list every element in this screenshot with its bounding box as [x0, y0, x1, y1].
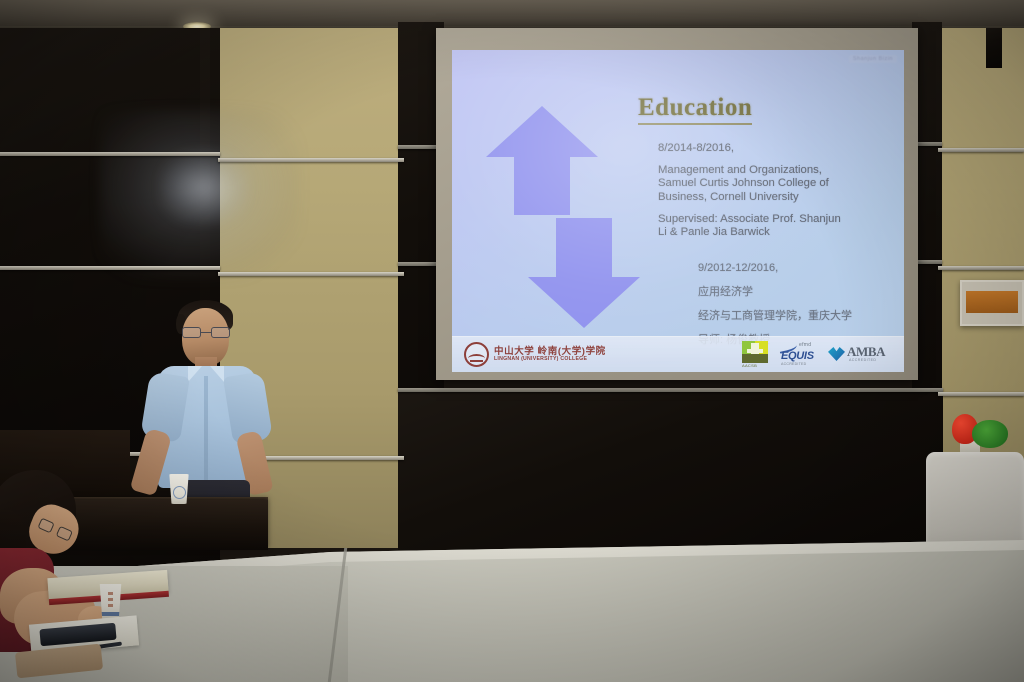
supervisor-line-1: Supervised: Associate Prof. Shanjun [658, 213, 890, 226]
cup-print-pattern [108, 592, 113, 610]
plant-leaves-green [972, 420, 1008, 448]
wall-panel-below-screen [398, 390, 943, 550]
wall-trim-5 [938, 148, 1024, 152]
wall-panel-far-right [986, 28, 1002, 68]
presenter-collar-right [210, 366, 224, 382]
arrow-down-head [528, 277, 640, 328]
aacsb-logo: AACSB [742, 341, 768, 368]
supervisor-line-2: Li & Panle Jia Barwick [658, 226, 890, 239]
slide-footer-bar: 中山大学 岭南(大学)学院 LINGNAN (UNIVERSITY) COLLE… [452, 336, 904, 372]
framed-picture [960, 280, 1024, 326]
slide-watermark: Shanjun Bizin [849, 55, 897, 63]
equis-wordmark: EQUIS [781, 350, 814, 362]
wall-trim-7 [218, 272, 404, 276]
education-major-cqu: 应用经济学 [698, 282, 904, 303]
amba-chevron-icon [828, 347, 845, 361]
arrow-down-icon [528, 218, 640, 328]
program-line-2: Samuel Curtis Johnson College of [658, 177, 890, 190]
wall-trim-14 [938, 392, 1024, 396]
equis-logo: efmd EQUIS ACCREDITED [778, 341, 818, 368]
presenter-glasses [182, 327, 230, 338]
education-dates-cqu: 9/2012-12/2016, [698, 258, 904, 279]
education-program-cornell: Management and Organizations, Samuel Cur… [658, 164, 890, 204]
aacsb-mark-horizontal [747, 349, 763, 353]
lingnan-name-en: LINGNAN (UNIVERSITY) COLLEGE [494, 357, 606, 362]
accreditation-logos: AACSB efmd EQUIS ACCREDITED AMBA ACCREDI… [742, 341, 894, 368]
lingnan-seal-icon [464, 342, 489, 367]
wall-trim-6 [0, 266, 220, 270]
aacsb-label: AACSB [742, 363, 757, 368]
amba-logo: AMBA ACCREDITED [828, 341, 894, 368]
presenter-glasses-right-lens [211, 327, 230, 338]
arrow-down-stem [556, 218, 612, 277]
presenter-glasses-left-lens [182, 327, 201, 338]
aacsb-base [742, 354, 768, 363]
wall-trim-2 [218, 158, 404, 162]
wall-trim-1 [0, 152, 220, 156]
conference-room-scene: Shanjun Bizin Education 8/2014-8/2016, M… [0, 0, 1024, 682]
program-line-3: Business, Cornell University [658, 191, 890, 204]
arrow-up-stem [514, 156, 570, 215]
podium-paper-cup [168, 474, 190, 504]
education-supervisors: Supervised: Associate Prof. Shanjun Li &… [658, 213, 890, 239]
arrow-up-head [486, 106, 598, 157]
education-dates-cornell: 8/2014-8/2016, [658, 142, 890, 155]
presenter-glasses-bridge [201, 332, 211, 333]
amba-sub-label: ACCREDITED [849, 358, 876, 362]
education-school-cqu: 经济与工商管理学院，重庆大学 [698, 306, 904, 327]
projection-screen-frame: Shanjun Bizin Education 8/2014-8/2016, M… [436, 28, 918, 380]
program-line-1: Management and Organizations, [658, 164, 890, 177]
equis-sub-label: ACCREDITED [781, 362, 806, 366]
arrow-up-icon [486, 106, 598, 216]
presenter-shirt-placket [204, 376, 208, 484]
slide-title: Education [638, 94, 752, 125]
slide-text-english: 8/2014-8/2016, Management and Organizati… [658, 142, 890, 239]
frame-picture-art [966, 291, 1018, 313]
lingnan-college-logo: 中山大学 岭南(大学)学院 LINGNAN (UNIVERSITY) COLLE… [464, 342, 606, 367]
lingnan-wordmark: 中山大学 岭南(大学)学院 LINGNAN (UNIVERSITY) COLLE… [494, 347, 606, 362]
equis-efmd-label: efmd [799, 342, 811, 348]
projected-slide: Shanjun Bizin Education 8/2014-8/2016, M… [452, 50, 904, 372]
wall-trim-10 [938, 266, 1024, 270]
presenter-collar-left [188, 366, 202, 382]
decorative-plant [952, 408, 1008, 450]
wall-trim-13 [398, 388, 943, 392]
